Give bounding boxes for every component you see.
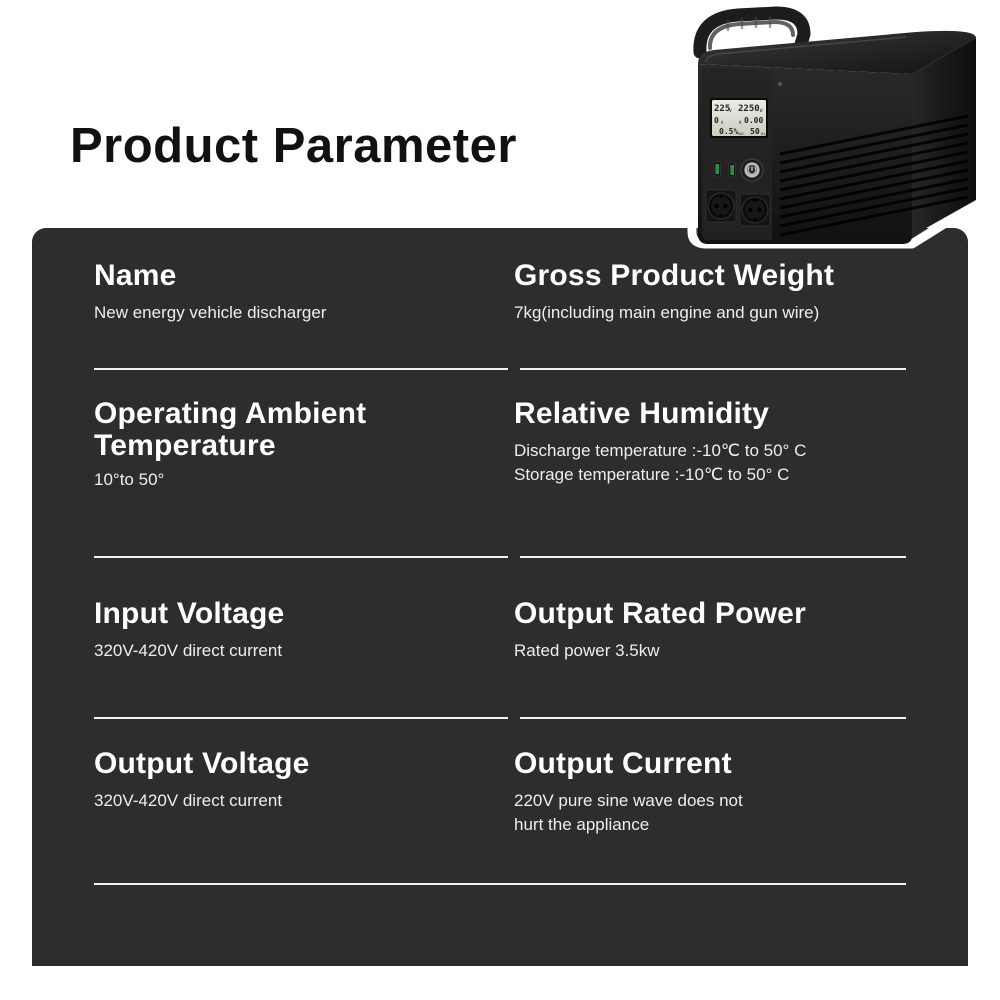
spec-cell-output-current: Output Current 220V pure sine wave does … — [514, 748, 906, 911]
row-divider-right — [520, 556, 906, 558]
row-divider-left — [94, 556, 508, 558]
usb-port-icon — [730, 165, 734, 175]
spec-row: Input Voltage 320V-420V direct current O… — [94, 598, 906, 748]
spec-cell-operating-ambient-temperature: Operating Ambient Temperature 10°to 50° — [94, 398, 514, 598]
page-title: Product Parameter — [70, 118, 517, 174]
spec-label: Relative Humidity — [514, 398, 888, 430]
spec-label: Operating Ambient Temperature — [94, 398, 434, 461]
spec-row: Name New energy vehicle discharger Gross… — [94, 260, 906, 398]
indicator-led — [778, 82, 782, 86]
spec-card: Name New energy vehicle discharger Gross… — [32, 228, 968, 966]
spec-row: Output Voltage 320V-420V direct current … — [94, 748, 906, 911]
spec-cell-input-voltage: Input Voltage 320V-420V direct current — [94, 598, 514, 748]
row-divider-left — [94, 368, 508, 370]
lcd-current: 0 — [714, 116, 719, 125]
spec-value: 220V pure sine wave does not hurt the ap… — [514, 789, 888, 838]
usb-port-icon — [715, 164, 719, 174]
spec-cell-output-voltage: Output Voltage 320V-420V direct current — [94, 748, 514, 911]
lcd-hours: 0.00 — [744, 116, 763, 125]
row-divider-right — [520, 717, 906, 719]
spec-value: New energy vehicle discharger — [94, 301, 496, 326]
lcd-power: 2250 — [738, 104, 760, 114]
spec-label: Output Rated Power — [514, 598, 888, 630]
lcd-frequency: 50 — [750, 127, 760, 136]
lcd-display: 225 V 2250 W 0 A H 0.00 0.5% SOC 50 Hz — [710, 98, 768, 138]
svg-text:SOC: SOC — [738, 132, 745, 136]
spec-label: Name — [94, 260, 496, 292]
spec-cell-name: Name New energy vehicle discharger — [94, 260, 514, 398]
spec-cell-gross-product-weight: Gross Product Weight 7kg(including main … — [514, 260, 906, 398]
spec-grid: Name New energy vehicle discharger Gross… — [94, 260, 906, 911]
spec-value: 10°to 50° — [94, 468, 496, 493]
product-image: 225 V 2250 W 0 A H 0.00 0.5% SOC 50 Hz — [676, 4, 988, 254]
lcd-voltage: 225 — [714, 104, 730, 114]
spec-value: Rated power 3.5kw — [514, 639, 888, 664]
power-button[interactable] — [741, 159, 763, 181]
spec-cell-relative-humidity: Relative Humidity Discharge temperature … — [514, 398, 906, 598]
spec-value: 320V-420V direct current — [94, 789, 496, 814]
svg-text:Hz: Hz — [761, 132, 765, 136]
lcd-soc: 0.5% — [719, 127, 738, 136]
row-divider-left — [94, 717, 508, 719]
row-divider-right — [520, 368, 906, 370]
spec-value: 7kg(including main engine and gun wire) — [514, 301, 888, 326]
row-divider-full — [94, 883, 906, 885]
spec-label: Output Voltage — [94, 748, 496, 780]
spec-value: 320V-420V direct current — [94, 639, 496, 664]
spec-label: Input Voltage — [94, 598, 496, 630]
power-station-illustration: 225 V 2250 W 0 A H 0.00 0.5% SOC 50 Hz — [676, 4, 988, 254]
spec-value: Discharge temperature :-10℃ to 50° C Sto… — [514, 439, 888, 488]
spec-row: Operating Ambient Temperature 10°to 50° … — [94, 398, 906, 598]
svg-text:V: V — [729, 108, 732, 114]
spec-cell-output-rated-power: Output Rated Power Rated power 3.5kw — [514, 598, 906, 748]
spec-label: Gross Product Weight — [514, 260, 888, 292]
spec-label: Output Current — [514, 748, 888, 780]
